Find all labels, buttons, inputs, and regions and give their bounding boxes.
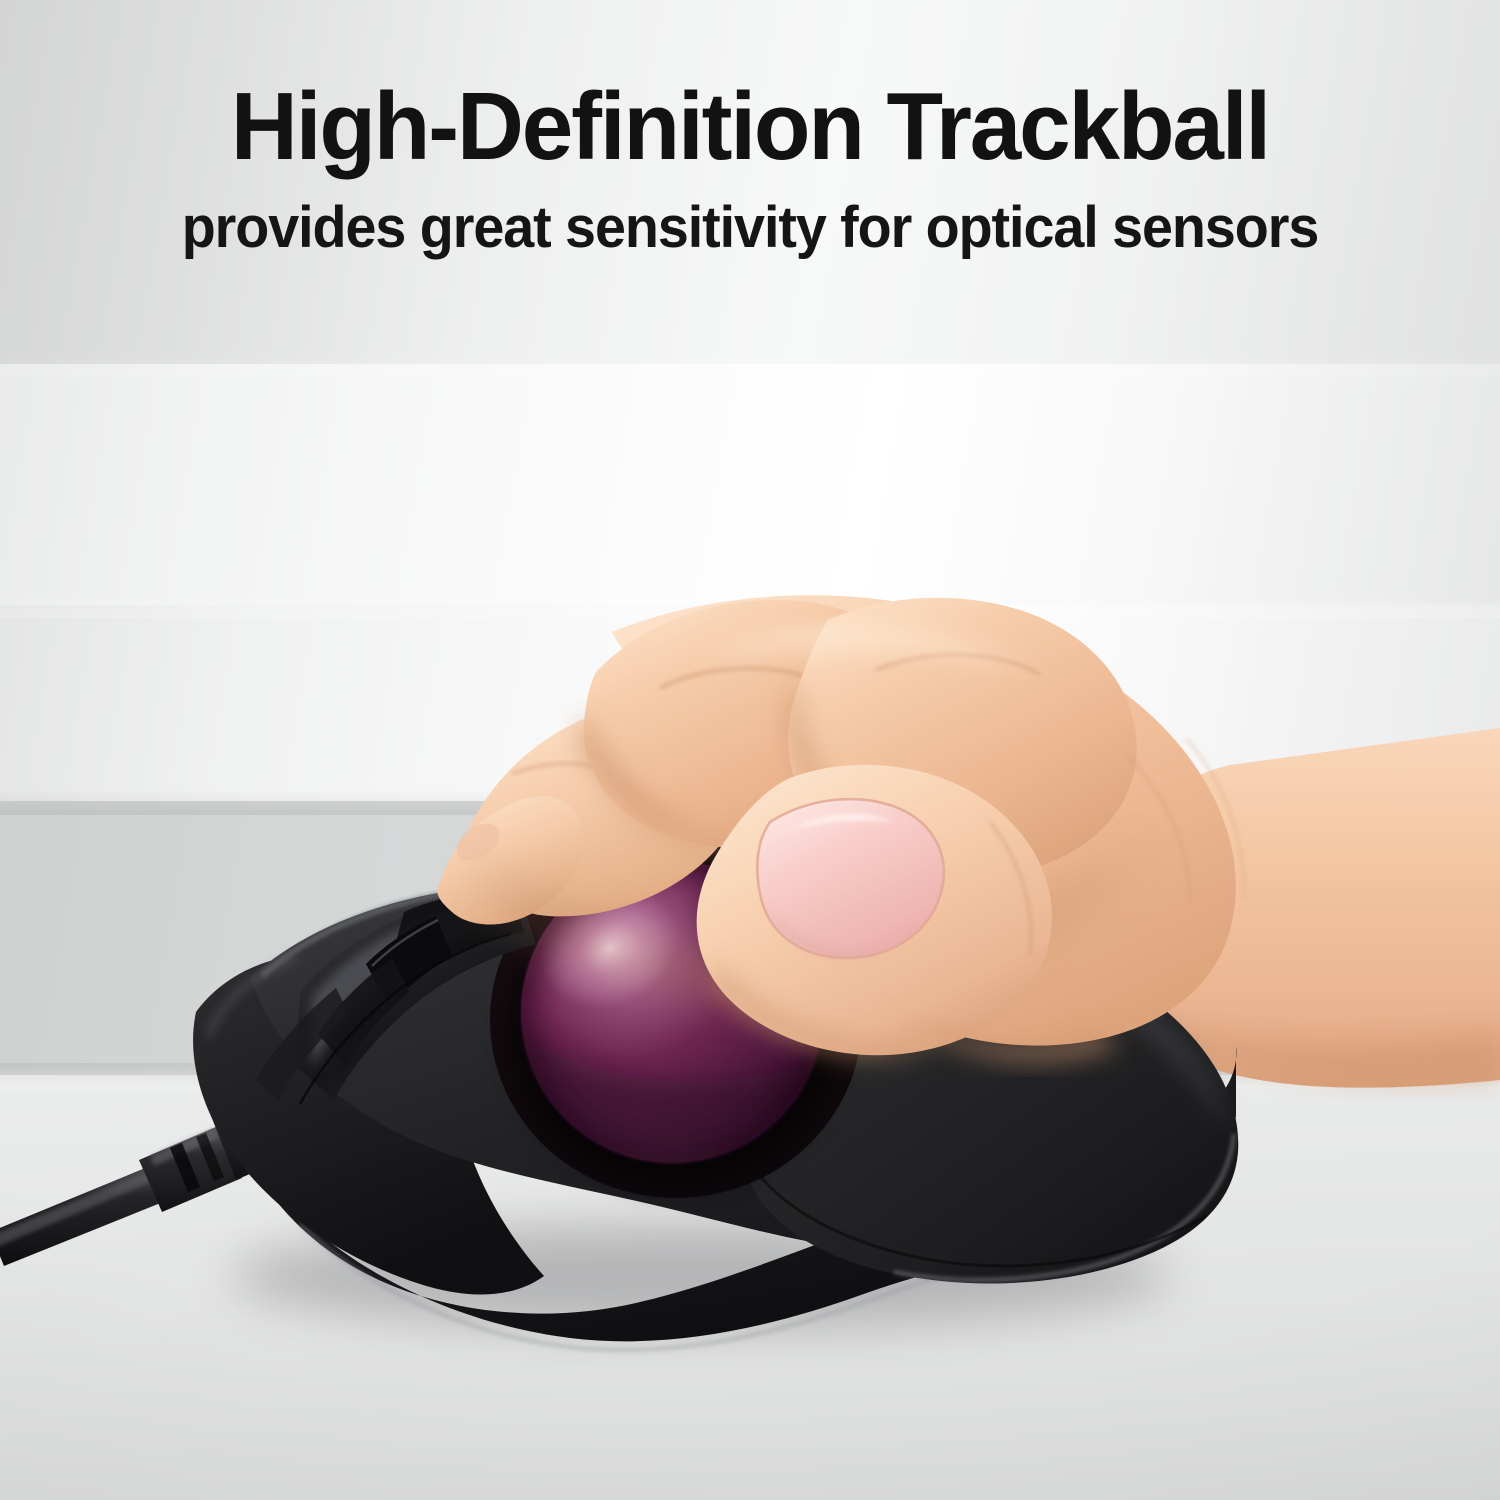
page-subtitle: provides great sensitivity for optical s… xyxy=(99,198,1401,259)
headline-block: High-Definition Trackball provides great… xyxy=(0,0,1500,259)
product-photo xyxy=(0,560,1500,1500)
product-feature-image: High-Definition Trackball provides great… xyxy=(0,0,1500,1500)
page-title: High-Definition Trackball xyxy=(96,78,1405,176)
